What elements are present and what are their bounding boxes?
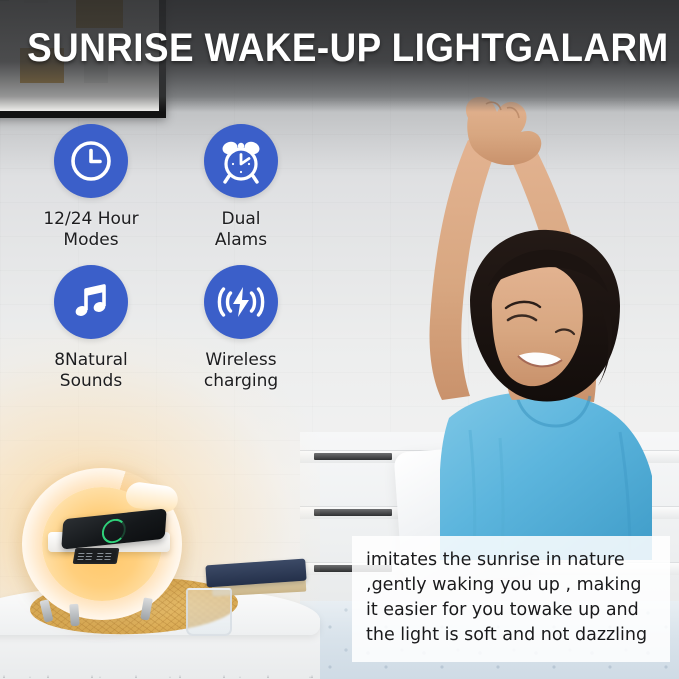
description-text: imitates the sunrise in nature ,gently w… [366, 548, 656, 648]
clock-digit [104, 552, 111, 560]
digital-clock-display [73, 548, 120, 564]
feature-label: Wireless charging [204, 350, 278, 392]
clock-digit [85, 552, 92, 560]
music-note-icon [69, 280, 113, 324]
feature-label: 8Natural Sounds [54, 350, 128, 392]
feature-badge [204, 265, 278, 339]
clock-digit [96, 552, 103, 560]
drinking-glass [186, 588, 232, 636]
feature-badge [204, 124, 278, 198]
feature-badge [54, 265, 128, 339]
g-shaped-sunrise-lamp [22, 468, 182, 620]
page-title: SUNRISE WAKE-UP LIGHTGALARM [27, 26, 652, 70]
feature-item-dual-alarms[interactable]: Dual Alams [166, 124, 316, 251]
clock-digit [77, 552, 84, 560]
feature-list: 12/24 Hour Modes Dual Alams [16, 124, 316, 392]
wireless-charging-icon [217, 280, 265, 324]
lamp-foot [69, 604, 80, 627]
feature-badge [54, 124, 128, 198]
feature-label: Dual Alams [215, 209, 267, 251]
feature-item-12-24-hour-modes[interactable]: 12/24 Hour Modes [16, 124, 166, 251]
description-panel: imitates the sunrise in nature ,gently w… [352, 536, 670, 662]
clock-icon [68, 138, 114, 184]
alarm-clock-icon [217, 137, 265, 185]
charging-indicator-icon [101, 518, 127, 545]
feature-item-wireless-charging[interactable]: Wireless charging [166, 265, 316, 392]
feature-label: 12/24 Hour Modes [43, 209, 138, 251]
feature-item-8-natural-sounds[interactable]: 8Natural Sounds [16, 265, 166, 392]
product-marketing-image: SUNRISE WAKE-UP LIGHTGALARM 12/24 Hour M… [0, 0, 679, 679]
